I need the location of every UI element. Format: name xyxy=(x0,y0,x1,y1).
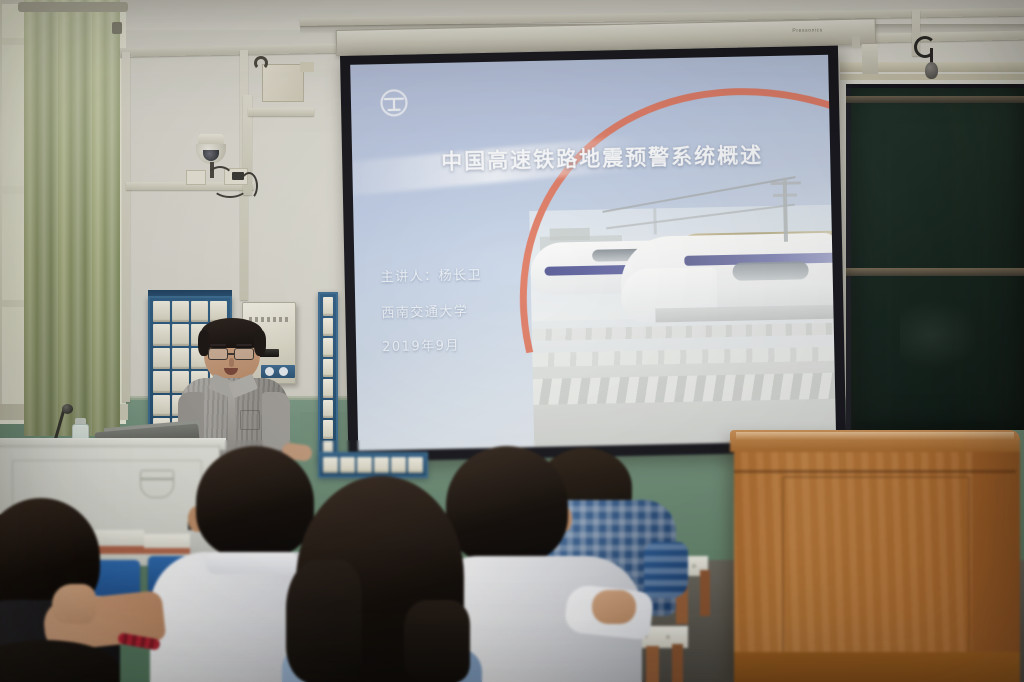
hair xyxy=(196,446,314,558)
hand xyxy=(52,584,96,624)
screen-black-border: 中国高速铁路地震预警系统概述 主讲人：杨长卫 西南交通大学 2019年9月 xyxy=(340,46,846,462)
slide-presenter-line: 主讲人：杨长卫 xyxy=(380,264,482,285)
card-pocket xyxy=(323,338,333,357)
card-pocket xyxy=(323,379,333,398)
presenter-nose xyxy=(229,358,234,367)
card-pocket xyxy=(323,318,333,337)
curtain-rod xyxy=(18,2,128,12)
card-pocket xyxy=(153,348,170,369)
bench-leg xyxy=(700,570,710,616)
card-pocket xyxy=(323,400,333,419)
podium-top-highlight xyxy=(736,432,1014,440)
card-pocket xyxy=(153,371,170,392)
glasses-bridge xyxy=(228,353,235,355)
presenter-sleeve xyxy=(262,392,290,450)
podium-front-panel xyxy=(782,476,970,658)
card-pocket xyxy=(153,395,170,416)
glasses-lens xyxy=(234,348,254,360)
card-pocket xyxy=(153,324,170,345)
card-pocket xyxy=(374,457,389,473)
wall-socket[interactable] xyxy=(186,170,206,185)
hair xyxy=(446,446,568,564)
conduit-pipe xyxy=(122,52,130,402)
slide-date: 2019年9月 xyxy=(382,335,460,356)
housing-end-cap xyxy=(862,44,879,74)
podium-trim xyxy=(734,470,1016,473)
slide-surface: 中国高速铁路地震预警系统概述 主讲人：杨长卫 西南交通大学 2019年9月 xyxy=(350,55,836,451)
housing-brand-label: Pressonics xyxy=(792,27,823,34)
long-hair xyxy=(286,560,362,682)
presenter-eyebrow xyxy=(210,344,226,346)
card-pocket xyxy=(323,359,333,378)
desk-microphone[interactable] xyxy=(62,404,73,414)
card-pocket xyxy=(340,457,355,473)
projection-screen[interactable]: 中国高速铁路地震预警系统概述 主讲人：杨长卫 西南交通大学 2019年9月 xyxy=(340,46,846,462)
card-pocket xyxy=(323,297,333,316)
lecture-hall-photo: Pressonics xyxy=(0,0,1024,682)
chalk-smudge xyxy=(900,300,980,370)
bench-bolt xyxy=(666,635,670,639)
card-pocket xyxy=(153,301,170,322)
card-pocket xyxy=(357,457,372,473)
china-railway-logo xyxy=(379,88,410,119)
card-pocket xyxy=(408,457,423,473)
cup-icon xyxy=(140,470,174,498)
bench-bolt xyxy=(692,564,696,568)
shirt-collar xyxy=(206,552,298,574)
bench-leg xyxy=(672,644,683,682)
card-pocket xyxy=(391,457,406,473)
cable-weight xyxy=(925,62,938,79)
hand xyxy=(592,590,636,624)
card-holder-board[interactable] xyxy=(318,452,428,478)
housing-bracket xyxy=(852,36,860,48)
cable-loop xyxy=(254,56,268,70)
electrical-junction-box xyxy=(262,64,304,102)
chalkboard-rail xyxy=(846,96,1024,103)
arm xyxy=(644,542,688,598)
podium-base xyxy=(734,652,1020,682)
podium-side xyxy=(972,452,1020,682)
cup-icon-line xyxy=(140,478,174,480)
presenter-shirt-pocket xyxy=(240,410,260,430)
chalkboard-rail xyxy=(846,268,1024,276)
conduit-pipe xyxy=(248,108,314,116)
presenter-hair xyxy=(254,330,266,356)
ponytail xyxy=(404,600,470,682)
glasses-lens xyxy=(208,348,228,360)
card-pocket xyxy=(323,457,338,473)
electrical-junction-box xyxy=(300,62,314,72)
curtain-shading xyxy=(24,0,120,436)
presenter-eyebrow xyxy=(236,344,252,346)
hanging-wire xyxy=(240,172,258,200)
card-pocket xyxy=(323,420,333,439)
slide-affiliation: 西南交通大学 xyxy=(381,300,468,321)
chalkboard xyxy=(846,88,1024,430)
curtain-hook xyxy=(112,22,122,34)
card-holder-board[interactable] xyxy=(318,292,338,464)
bench-leg xyxy=(646,646,659,682)
